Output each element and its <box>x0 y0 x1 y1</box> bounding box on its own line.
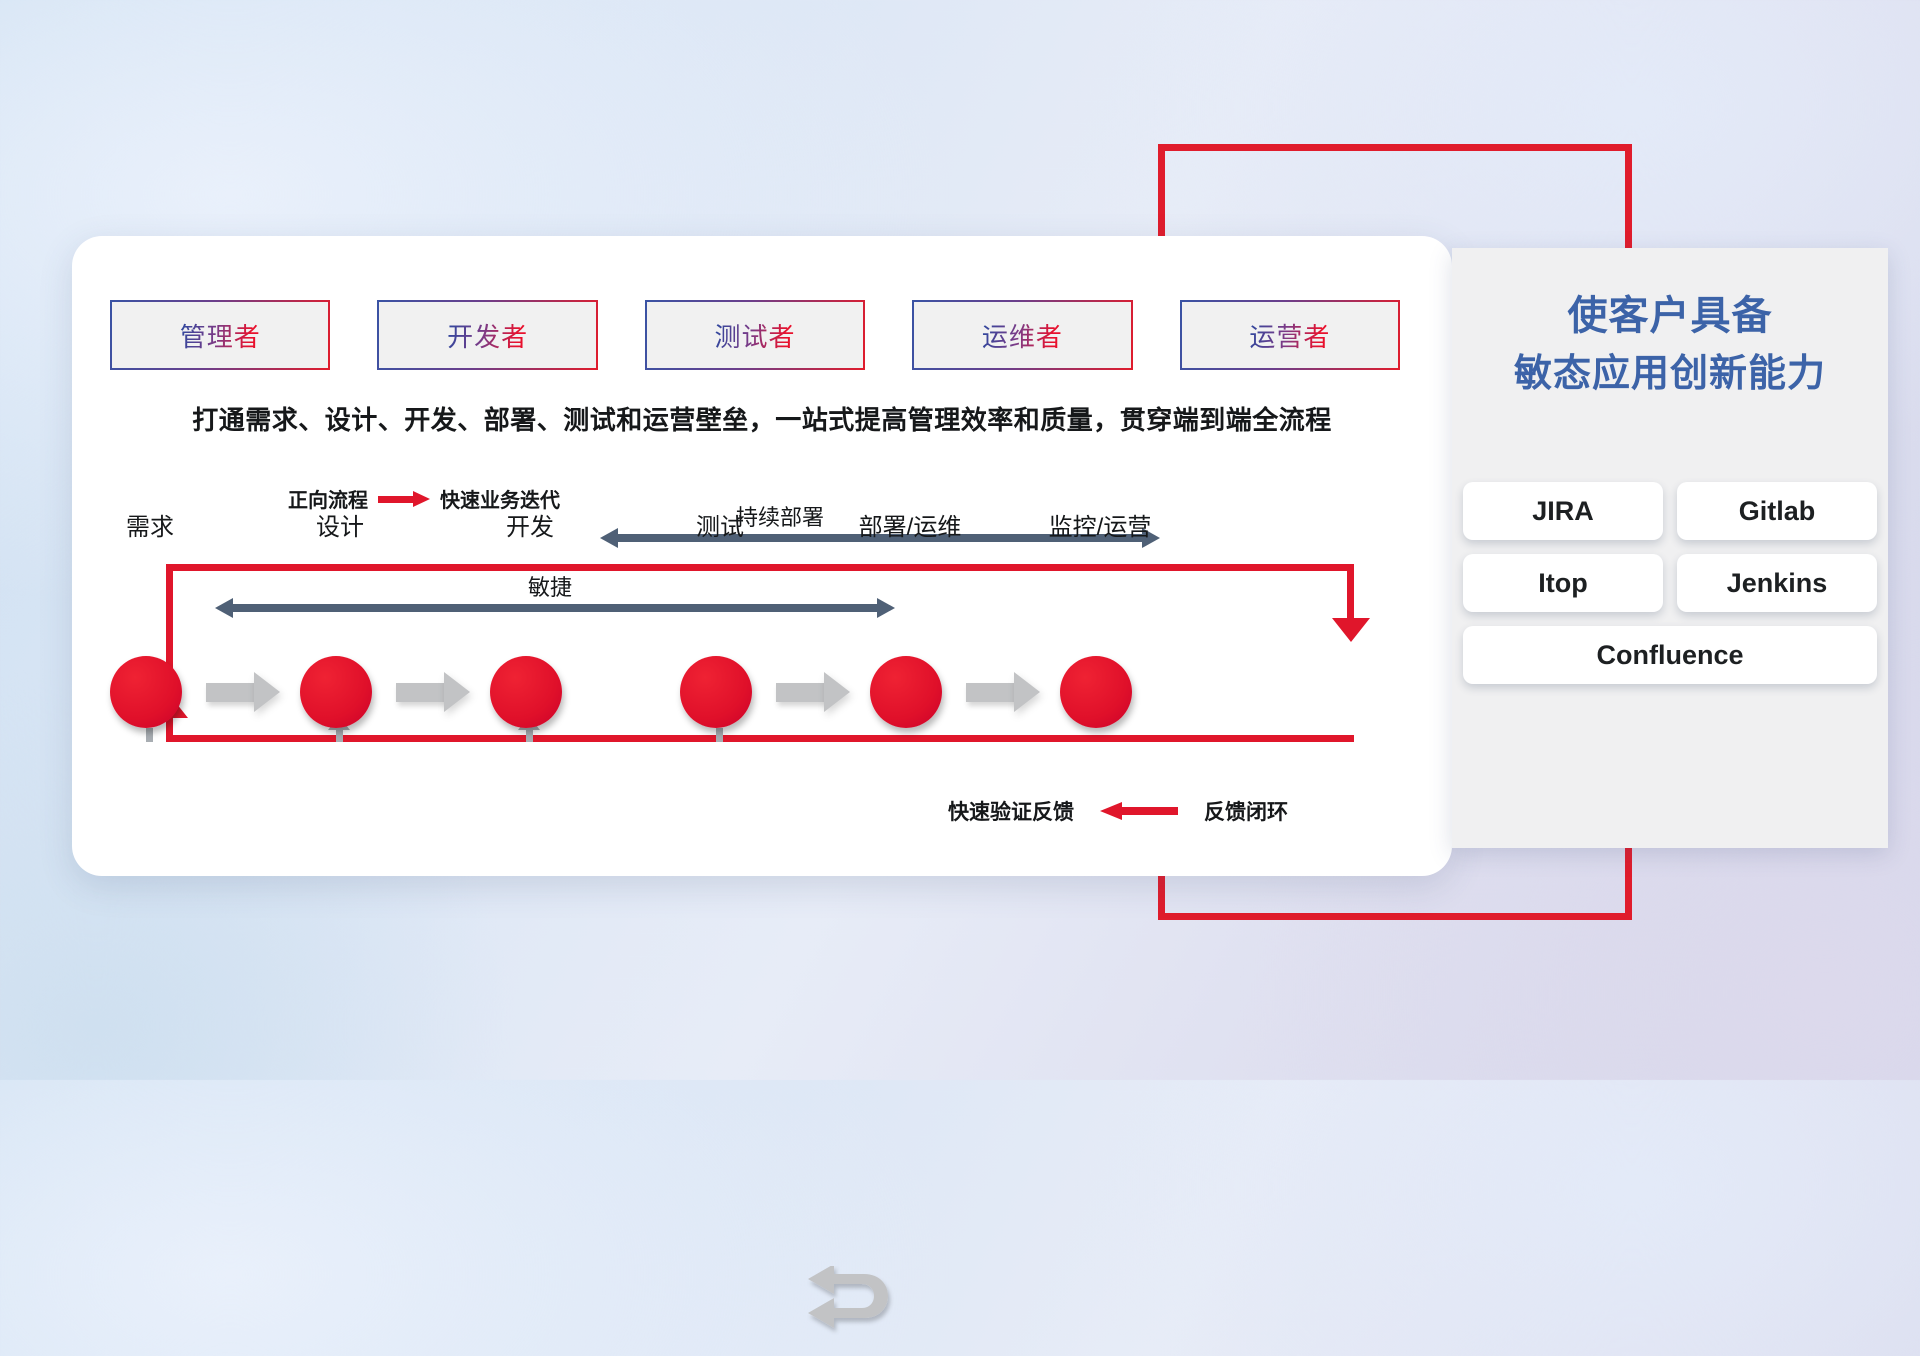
stage-label: 部署/运维 <box>859 507 962 542</box>
role-box-ops[interactable]: 运维者 <box>912 300 1132 370</box>
loop-line-right <box>1347 564 1354 624</box>
stage-label: 测试 <box>696 507 744 542</box>
flow-arrow-2-icon <box>396 672 470 712</box>
role-row: 管理者 开发者 测试者 运维者 运营者 <box>110 300 1400 366</box>
role-label: 运维者 <box>982 317 1063 354</box>
arrow-left-red-icon <box>1100 802 1178 820</box>
legend-feedback-right-label: 反馈闭环 <box>1204 796 1288 826</box>
tool-chip-jira[interactable]: JIRA <box>1463 482 1663 540</box>
pipeline: 需求 设计 开发 <box>110 620 1420 740</box>
stem-develop <box>526 728 533 742</box>
stage-dot <box>300 656 372 728</box>
loop-line-top <box>166 564 1354 571</box>
tool-chip-confluence[interactable]: Confluence <box>1463 626 1877 684</box>
stem-demand <box>146 728 153 742</box>
tool-chip-gitlab[interactable]: Gitlab <box>1677 482 1877 540</box>
arrow-right-red-icon <box>378 491 430 507</box>
iteration-loop-icon <box>804 1266 914 1356</box>
panel-title-line2: 敏态应用创新能力 <box>1452 346 1888 403</box>
stem-design <box>336 728 343 742</box>
legend-feedback-left-label: 快速验证反馈 <box>948 796 1074 826</box>
role-box-manager[interactable]: 管理者 <box>110 300 330 370</box>
role-box-operator[interactable]: 运营者 <box>1180 300 1400 370</box>
role-label: 运营者 <box>1249 317 1330 354</box>
stage-label: 开发 <box>506 507 554 542</box>
stage-dot <box>490 656 562 728</box>
role-label: 测试者 <box>715 317 796 354</box>
stage-dot <box>680 656 752 728</box>
tagline: 打通需求、设计、开发、部署、测试和运营壁垒，一站式提高管理效率和质量，贯穿端到端… <box>72 400 1452 437</box>
panel-title-line1: 使客户具备 <box>1452 286 1888 346</box>
role-box-tester[interactable]: 测试者 <box>645 300 865 370</box>
tool-chip-itop[interactable]: Itop <box>1463 554 1663 612</box>
stage-dot <box>110 656 182 728</box>
flow-arrow-3-icon <box>776 672 850 712</box>
panel-title: 使客户具备 敏态应用创新能力 <box>1452 286 1888 403</box>
stage-dot <box>870 656 942 728</box>
role-label: 开发者 <box>447 317 528 354</box>
flow-arrow-4-icon <box>966 672 1040 712</box>
arrow-span-agile <box>215 598 895 618</box>
role-box-developer[interactable]: 开发者 <box>377 300 597 370</box>
legend-feedback-loop: 快速验证反馈 反馈闭环 <box>948 796 1288 826</box>
role-label: 管理者 <box>180 317 261 354</box>
stage-label: 设计 <box>316 507 364 542</box>
stage-label: 需求 <box>126 507 174 542</box>
stage-label: 监控/运营 <box>1049 507 1152 542</box>
tool-chip-jenkins[interactable]: Jenkins <box>1677 554 1877 612</box>
tool-chip-list: JIRA Gitlab Itop Jenkins Confluence <box>1463 482 1877 684</box>
stage-dot <box>1060 656 1132 728</box>
flow-arrow-1-icon <box>206 672 280 712</box>
stem-test <box>716 728 723 742</box>
